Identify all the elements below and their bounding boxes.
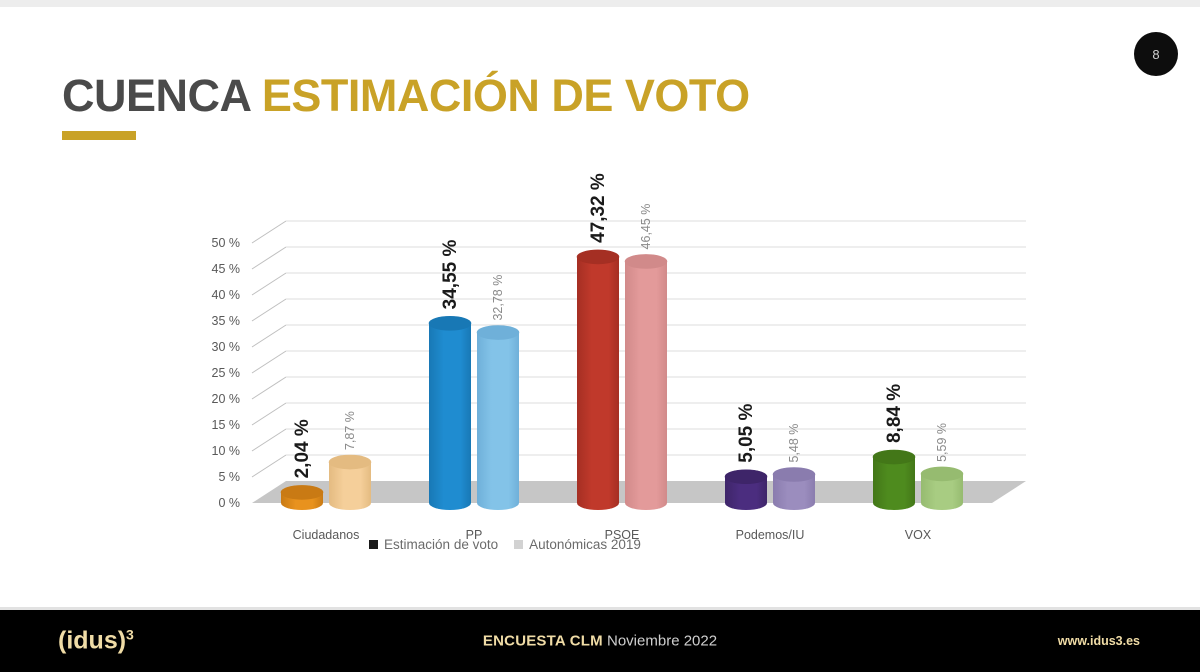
bar-secondary-1 xyxy=(477,326,519,510)
y-axis-tick-label: 25 % xyxy=(212,366,241,380)
y-axis-tick-label: 40 % xyxy=(212,288,241,302)
y-axis-tick-label: 15 % xyxy=(212,418,241,432)
y-axis-tick-label: 45 % xyxy=(212,262,241,276)
page-number-badge: 8 xyxy=(1134,32,1178,76)
slide-top-band xyxy=(0,0,1200,7)
bar-secondary-2 xyxy=(625,254,667,510)
slide-canvas: 8 CUENCA ESTIMACIÓN DE VOTO 0 %5 %10 %15… xyxy=(0,0,1200,672)
legend-label-primary: Estimación de voto xyxy=(384,537,498,552)
footer-survey-name: ENCUESTA CLM xyxy=(483,633,603,650)
page-title: CUENCA ESTIMACIÓN DE VOTO xyxy=(62,72,750,140)
value-label-primary: 8,84 % xyxy=(884,384,905,443)
bar-primary-0 xyxy=(281,485,323,510)
value-label-secondary: 32,78 % xyxy=(491,275,505,321)
bar-secondary-4 xyxy=(921,467,963,510)
chart-bars xyxy=(281,250,963,510)
y-axis-tick-label: 10 % xyxy=(212,444,241,458)
y-axis-tick-label: 20 % xyxy=(212,392,241,406)
y-axis-tick-label: 30 % xyxy=(212,340,241,354)
y-axis-tick-label: 50 % xyxy=(212,236,241,250)
page-title-region: CUENCA xyxy=(62,70,250,121)
chart-legend: Estimación de voto Autonómicas 2019 xyxy=(0,537,1010,552)
chart-value-labels: 2,04 %7,87 %34,55 %32,78 %47,32 %46,45 %… xyxy=(292,173,949,478)
value-label-primary: 5,05 % xyxy=(736,403,757,462)
footer-logo-superscript: 3 xyxy=(126,626,134,642)
footer-brand-logo: (idus)3 xyxy=(58,626,134,655)
value-label-secondary: 5,59 % xyxy=(935,423,949,462)
page-title-subject: ESTIMACIÓN DE VOTO xyxy=(262,70,750,121)
value-label-secondary: 7,87 % xyxy=(343,411,357,450)
footer-survey-date: Noviembre 2022 xyxy=(607,633,717,650)
y-axis-tick-label: 35 % xyxy=(212,314,241,328)
vote-estimate-bar-chart: 0 %5 %10 %15 %20 %25 %30 %35 %40 %45 %50… xyxy=(180,165,1040,565)
legend-swatch-primary-icon xyxy=(369,540,378,549)
chart-svg: 0 %5 %10 %15 %20 %25 %30 %35 %40 %45 %50… xyxy=(180,165,1040,565)
footer-survey-caption: ENCUESTA CLM Noviembre 2022 xyxy=(483,633,717,650)
bar-primary-3 xyxy=(725,470,767,510)
chart-y-axis-ticks: 0 %5 %10 %15 %20 %25 %30 %35 %40 %45 %50… xyxy=(212,236,241,510)
bar-primary-2 xyxy=(577,250,619,510)
y-axis-tick-label: 0 % xyxy=(218,496,240,510)
slide-footer: (idus)3 ENCUESTA CLM Noviembre 2022 www.… xyxy=(0,610,1200,672)
bar-secondary-0 xyxy=(329,455,371,510)
footer-website-url: www.idus3.es xyxy=(1058,634,1140,648)
page-title-text: CUENCA ESTIMACIÓN DE VOTO xyxy=(62,72,750,119)
legend-label-secondary: Autonómicas 2019 xyxy=(529,537,641,552)
y-axis-tick-label: 5 % xyxy=(218,470,240,484)
bar-secondary-3 xyxy=(773,468,815,510)
value-label-secondary: 46,45 % xyxy=(639,204,653,250)
value-label-primary: 2,04 % xyxy=(292,419,313,478)
value-label-secondary: 5,48 % xyxy=(787,424,801,463)
title-underline-accent xyxy=(62,131,136,140)
legend-item-primary: Estimación de voto xyxy=(369,537,498,552)
legend-item-secondary: Autonómicas 2019 xyxy=(514,537,641,552)
footer-logo-text: (idus) xyxy=(58,627,126,655)
legend-swatch-secondary-icon xyxy=(514,540,523,549)
bar-primary-4 xyxy=(873,450,915,510)
value-label-primary: 34,55 % xyxy=(440,240,461,310)
value-label-primary: 47,32 % xyxy=(588,173,609,243)
bar-primary-1 xyxy=(429,316,471,510)
page-number-text: 8 xyxy=(1152,47,1159,62)
